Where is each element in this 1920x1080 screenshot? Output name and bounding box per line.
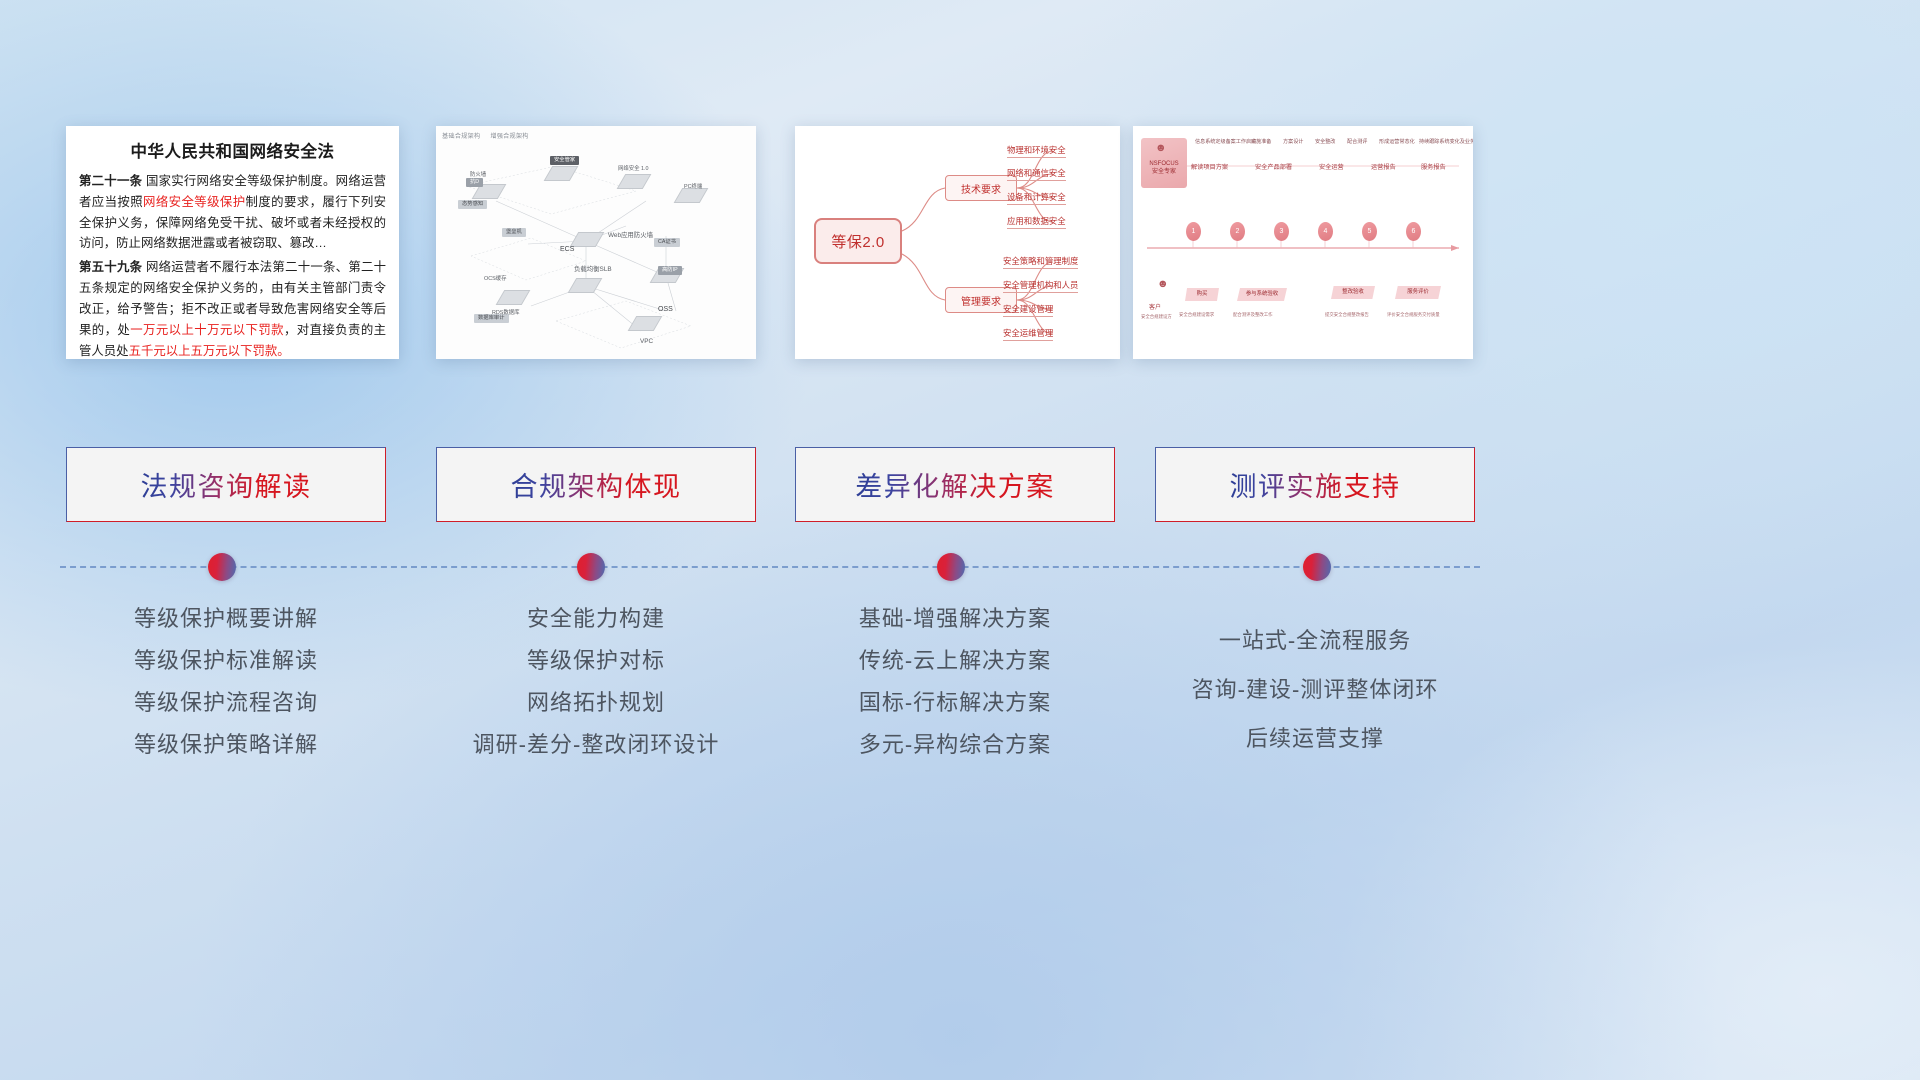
- article-59-highlight-a: 一万元以上十万元以下罚款: [130, 323, 284, 337]
- mindmap-leaf-device-compute: 设备和计算安全: [1007, 191, 1066, 205]
- arch-node-waf: Web应用防火墙: [608, 230, 653, 239]
- list-item: 多元-异构综合方案: [795, 734, 1115, 756]
- card-law[interactable]: 中华人民共和国网络安全法 第二十一条 国家实行网络安全等级保护制度。网络运营者应…: [66, 126, 399, 359]
- list-column-3: 基础-增强解决方案 传统-云上解决方案 国标-行标解决方案 多元-异构综合方案: [795, 608, 1115, 776]
- article-21-highlight: 网络安全等级保护: [143, 195, 245, 209]
- arch-node-high-defense-ip: 高防IP: [658, 266, 682, 275]
- list-item: 基础-增强解决方案: [795, 608, 1115, 630]
- arch-node-bastion-host: 堡垒机: [502, 228, 526, 237]
- arch-node-ecs: ECS: [560, 246, 574, 253]
- arch-node-slb: 负载均衡SLB: [574, 264, 612, 273]
- list-column-2: 安全能力构建 等级保护对标 网络拓扑规划 调研-差分-整改闭环设计: [436, 608, 756, 776]
- arch-node-pc: PC终端: [684, 182, 702, 190]
- law-title: 中华人民共和国网络安全法: [79, 138, 386, 162]
- chip-evaluation-title: 服务评价: [1400, 289, 1436, 296]
- cards-row: 中华人民共和国网络安全法 第二十一条 国家实行网络安全等级保护制度。网络运营者应…: [0, 0, 1920, 440]
- list-item: 后续运营支撑: [1155, 728, 1475, 750]
- roadmap-chip-rectify[interactable]: 整改验收: [1331, 286, 1375, 299]
- roadmap-customer-label: 客户: [1149, 302, 1161, 311]
- list-column-4: 一站式-全流程服务 咨询-建设-测评整体闭环 后续运营支撑: [1155, 630, 1475, 777]
- roadmap-chip-acceptance[interactable]: 参与系统验收: [1237, 288, 1287, 301]
- chip-rectify-title: 整改验收: [1336, 289, 1370, 296]
- header-box-compliance-architecture[interactable]: 合规架构体现: [436, 447, 756, 522]
- roadmap-phase-3: 安全运营: [1319, 162, 1344, 171]
- timeline: [0, 566, 1920, 570]
- header-box-evaluation-support[interactable]: 测评实施支持: [1155, 447, 1475, 522]
- list-item: 调研-差分-整改闭环设计: [436, 734, 756, 756]
- roadmap-top-2: 实施准备: [1251, 138, 1271, 145]
- roadmap-chip-purchase-sub: 安全合规建设需求: [1179, 312, 1214, 318]
- roadmap-chip-rectify-sub: 提交安全合规整改报告: [1325, 312, 1369, 318]
- list-item: 国标-行标解决方案: [795, 692, 1115, 714]
- mindmap-leaf-org-personnel: 安全管理机构和人员: [1003, 279, 1078, 293]
- roadmap-brand-name: NSFOCUS: [1141, 160, 1187, 168]
- arch-node-firewall: 防火墙: [470, 170, 486, 178]
- list-item: 等级保护策略详解: [66, 734, 386, 756]
- roadmap-chip-acceptance-sub: 配合测评及整改工作: [1233, 312, 1273, 318]
- law-article-21: 第二十一条 国家实行网络安全等级保护制度。网络运营者应当按照网络安全等级保护制度…: [79, 171, 386, 254]
- architecture-diagram: 基础合规架构增强合规架构: [436, 126, 756, 359]
- header-label-2: 合规架构体现: [511, 465, 682, 504]
- list-column-1: 等级保护概要讲解 等级保护标准解读 等级保护流程咨询 等级保护策略详解: [66, 608, 386, 776]
- roadmap-brand-sub: 安全专家: [1141, 168, 1187, 176]
- arch-node-security-manager: 安全管家: [550, 156, 579, 165]
- timeline-dot-1[interactable]: [208, 553, 236, 581]
- roadmap-chip-evaluation[interactable]: 服务评价: [1395, 286, 1441, 299]
- list-item: 网络拓扑规划: [436, 692, 756, 714]
- roadmap-top-3: 方案设计: [1283, 138, 1303, 145]
- timeline-dot-3[interactable]: [937, 553, 965, 581]
- roadmap-step-5[interactable]: 5: [1362, 222, 1377, 241]
- arch-node-ca-cert: CA证书: [654, 238, 680, 247]
- timeline-dot-2[interactable]: [577, 553, 605, 581]
- roadmap-step-3[interactable]: 3: [1274, 222, 1289, 241]
- article-59-highlight-b: 五千元以上五万元以下罚款。: [129, 344, 290, 358]
- roadmap-diagram: NSFOCUS 安全专家 ☻ 信息系统定级备案工作启动 实施准备 方案设计 安全…: [1133, 126, 1473, 359]
- mindmap-root-node[interactable]: 等保2.0: [814, 218, 902, 264]
- header-label-4: 测评实施支持: [1230, 465, 1401, 504]
- roadmap-top-4: 安全整改: [1315, 138, 1335, 145]
- list-item: 等级保护概要讲解: [66, 608, 386, 630]
- arch-node-netsec-1: 网络安全 1.0: [618, 164, 649, 172]
- list-item: 安全能力构建: [436, 608, 756, 630]
- card-architecture[interactable]: 基础合规架构增强合规架构: [436, 126, 756, 359]
- mindmap-leaf-operations-mgmt: 安全运维管理: [1003, 327, 1053, 341]
- law-content: 中华人民共和国网络安全法 第二十一条 国家实行网络安全等级保护制度。网络运营者应…: [66, 126, 399, 359]
- mindmap-leaf-policy-system: 安全策略和管理制度: [1003, 255, 1078, 269]
- arch-node-oss: OSS: [658, 306, 673, 313]
- header-label-1: 法规咨询解读: [141, 465, 312, 504]
- list-item: 等级保护流程咨询: [66, 692, 386, 714]
- list-item: 等级保护对标: [436, 650, 756, 672]
- header-label-3: 差异化解决方案: [855, 465, 1055, 504]
- roadmap-customer-sub: 安全合规建设方: [1141, 314, 1172, 320]
- card-roadmap[interactable]: NSFOCUS 安全专家 ☻ 信息系统定级备案工作启动 实施准备 方案设计 安全…: [1133, 126, 1473, 359]
- arch-node-rds: RDS数据库: [492, 308, 520, 316]
- mindmap-leaf-physical-env: 物理和环境安全: [1007, 144, 1066, 158]
- roadmap-step-6[interactable]: 6: [1406, 222, 1421, 241]
- mindmap-leaf-network-comm: 网络和通信安全: [1007, 167, 1066, 181]
- roadmap-chip-evaluation-sub: 评价安全合规服务交付质量: [1387, 312, 1440, 318]
- roadmap-step-4[interactable]: 4: [1318, 222, 1333, 241]
- arch-node-vpc: VPC: [640, 338, 653, 345]
- arch-node-antid: 抗D: [466, 178, 483, 187]
- mindmap-leaf-app-data: 应用和数据安全: [1007, 215, 1066, 229]
- mindmap-diagram: 等保2.0 技术要求 物理和环境安全 网络和通信安全 设备和计算安全 应用和数据…: [795, 126, 1120, 359]
- article-59-label: 第五十九条: [79, 260, 142, 274]
- headers-row: 法规咨询解读 合规架构体现 差异化解决方案 测评实施支持: [0, 447, 1920, 522]
- customer-icon: ☻: [1157, 278, 1169, 290]
- roadmap-top-1: 信息系统定级备案工作启动: [1195, 138, 1256, 145]
- header-box-differentiated-solution[interactable]: 差异化解决方案: [795, 447, 1115, 522]
- arch-node-situational-awareness: 态势感知: [458, 200, 487, 209]
- list-item: 咨询-建设-测评整体闭环: [1155, 679, 1475, 701]
- timeline-dot-4[interactable]: [1303, 553, 1331, 581]
- list-item: 传统-云上解决方案: [795, 650, 1115, 672]
- list-item: 一站式-全流程服务: [1155, 630, 1475, 652]
- roadmap-step-2[interactable]: 2: [1230, 222, 1245, 241]
- arch-node-ocs: OCS缓存: [484, 274, 506, 282]
- article-21-label: 第二十一条: [79, 174, 142, 188]
- roadmap-chip-purchase[interactable]: 购买: [1185, 288, 1219, 301]
- card-mindmap[interactable]: 等保2.0 技术要求 物理和环境安全 网络和通信安全 设备和计算安全 应用和数据…: [795, 126, 1120, 359]
- roadmap-top-6: 形成运营常态化: [1379, 138, 1415, 145]
- timeline-dashed-line: [60, 566, 1480, 568]
- law-article-59: 第五十九条 网络运营者不履行本法第二十一条、第二十五条规定的网络安全保护义务的，…: [79, 257, 386, 359]
- roadmap-top-5: 配合测评: [1347, 138, 1367, 145]
- roadmap-step-1[interactable]: 1: [1186, 222, 1201, 241]
- mindmap-leaf-construction-mgmt: 安全建设管理: [1003, 303, 1053, 317]
- roadmap-phase-4: 运营报告: [1371, 162, 1396, 171]
- expert-icon: ☻: [1155, 142, 1167, 154]
- header-box-regulation-consulting[interactable]: 法规咨询解读: [66, 447, 386, 522]
- list-item: 等级保护标准解读: [66, 650, 386, 672]
- chip-purchase-title: 购买: [1190, 291, 1214, 298]
- roadmap-top-7: 持续跟踪系统变化及业务上线安全合规情况: [1419, 138, 1473, 145]
- roadmap-phase-2: 安全产品部署: [1255, 162, 1292, 171]
- chip-acceptance-title: 参与系统验收: [1242, 291, 1282, 298]
- roadmap-phase-5: 服务报告: [1421, 162, 1446, 171]
- roadmap-phase-1: 解读项目方案: [1191, 162, 1228, 171]
